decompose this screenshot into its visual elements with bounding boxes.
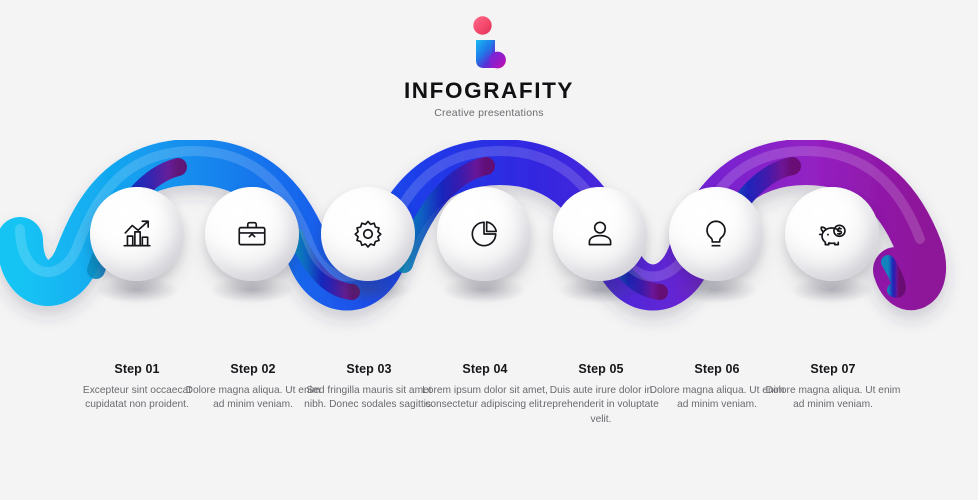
step-node-4[interactable]: [437, 187, 531, 281]
step-node-6[interactable]: [669, 187, 763, 281]
lightbulb-icon: [699, 217, 733, 251]
logo-title: INFOGRAFITY: [0, 80, 978, 103]
piggy-bank-icon: [815, 217, 849, 251]
infografity-i-logo-icon: [454, 14, 524, 76]
infographic-canvas: INFOGRAFITY Creative presentations: [0, 0, 978, 500]
step-node-7[interactable]: [785, 187, 879, 281]
user-person-icon: [583, 217, 617, 251]
caption-step-7: Step 07 Dolore magna aliqua. Ut enim ad …: [764, 362, 902, 413]
logo-subtitle: Creative presentations: [0, 108, 978, 119]
step-node-2[interactable]: [205, 187, 299, 281]
step-node-3[interactable]: [321, 187, 415, 281]
bar-chart-growth-icon: [120, 217, 154, 251]
step-node-1[interactable]: [90, 187, 184, 281]
pie-chart-icon: [467, 217, 501, 251]
caption-title: Step 07: [764, 362, 902, 377]
briefcase-icon: [235, 217, 269, 251]
step-node-5[interactable]: [553, 187, 647, 281]
gear-icon: [351, 217, 385, 251]
captions-row: Step 01 Excepteur sint occaecat cupidata…: [0, 362, 978, 442]
ribbon-twist-6: [888, 262, 899, 291]
caption-body: Dolore magna aliqua. Ut enim ad minim ve…: [764, 384, 902, 413]
logo-block: INFOGRAFITY Creative presentations: [0, 14, 978, 118]
